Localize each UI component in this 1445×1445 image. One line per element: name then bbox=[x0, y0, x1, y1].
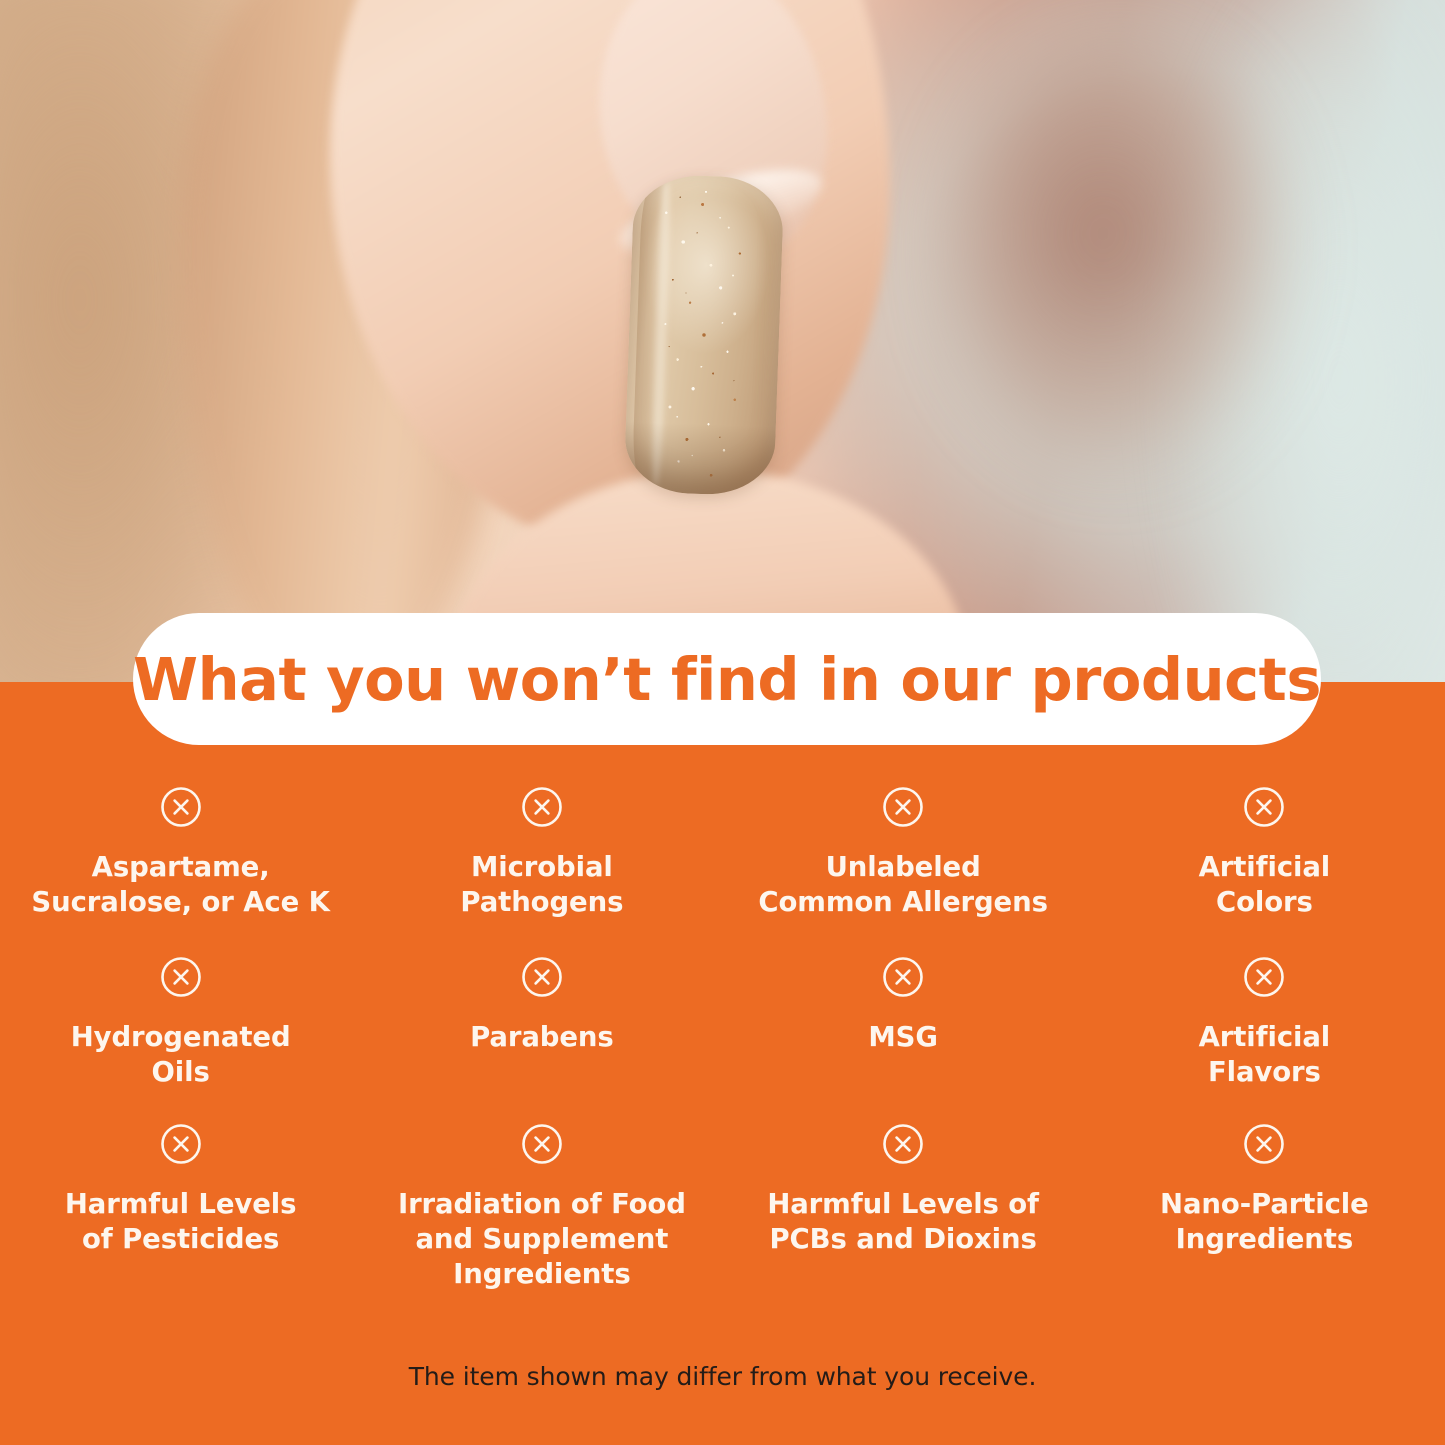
grid-cell-label: HydrogenatedOils bbox=[71, 1020, 291, 1090]
x-circle-icon bbox=[160, 1123, 202, 1165]
page-title-emphasis: won’t bbox=[466, 645, 651, 714]
grid-cell-parabens: Parabens bbox=[361, 956, 722, 1123]
x-circle-icon bbox=[1243, 1123, 1285, 1165]
grid-cell-unlabeled-allergens: UnlabeledCommon Allergens bbox=[723, 786, 1084, 956]
headline-pill: What you won’t find in our products bbox=[133, 613, 1321, 745]
photo-background-bokeh bbox=[950, 40, 1290, 470]
supplement-tablet bbox=[623, 173, 784, 496]
grid-cell-label: Harmful Levelsof Pesticides bbox=[65, 1187, 296, 1257]
x-circle-icon bbox=[1243, 786, 1285, 828]
x-circle-icon bbox=[882, 956, 924, 998]
x-circle-icon bbox=[521, 786, 563, 828]
disclaimer-text: The item shown may differ from what you … bbox=[0, 1362, 1445, 1391]
grid-cell-pcbs-dioxins: Harmful Levels ofPCBs and Dioxins bbox=[723, 1123, 1084, 1323]
grid-cell-label: UnlabeledCommon Allergens bbox=[758, 850, 1047, 920]
x-circle-icon bbox=[521, 956, 563, 998]
grid-cell-label: Harmful Levels ofPCBs and Dioxins bbox=[767, 1187, 1039, 1257]
grid-cell-label: ArtificialFlavors bbox=[1199, 1020, 1331, 1090]
grid-cell-label: ArtificialColors bbox=[1199, 850, 1331, 920]
product-claims-infographic: What you won’t find in our products Aspa… bbox=[0, 0, 1445, 1445]
grid-cell-artificial-colors: ArtificialColors bbox=[1084, 786, 1445, 956]
x-circle-icon bbox=[160, 786, 202, 828]
x-circle-icon bbox=[882, 1123, 924, 1165]
page-title: What you won’t find in our products bbox=[133, 645, 1321, 714]
grid-cell-pesticides: Harmful Levelsof Pesticides bbox=[0, 1123, 361, 1323]
grid-row: Harmful Levelsof Pesticides Irradiation … bbox=[0, 1123, 1445, 1323]
x-circle-icon bbox=[1243, 956, 1285, 998]
grid-cell-aspartame: Aspartame,Sucralose, or Ace K bbox=[0, 786, 361, 956]
page-title-part1: What you bbox=[133, 645, 466, 714]
grid-cell-label: MSG bbox=[868, 1020, 937, 1055]
grid-cell-label: Nano-ParticleIngredients bbox=[1160, 1187, 1369, 1257]
grid-cell-microbial-pathogens: MicrobialPathogens bbox=[361, 786, 722, 956]
grid-cell-label: Aspartame,Sucralose, or Ace K bbox=[31, 850, 329, 920]
grid-row: HydrogenatedOils Parabens MSG Artificial… bbox=[0, 956, 1445, 1123]
grid-cell-irradiation: Irradiation of Foodand SupplementIngredi… bbox=[361, 1123, 722, 1323]
grid-cell-label: Parabens bbox=[470, 1020, 614, 1055]
excluded-ingredients-grid: Aspartame,Sucralose, or Ace K MicrobialP… bbox=[0, 786, 1445, 1323]
grid-cell-hydrogenated-oils: HydrogenatedOils bbox=[0, 956, 361, 1123]
page-title-part2: find in our products bbox=[651, 645, 1321, 714]
grid-row: Aspartame,Sucralose, or Ace K MicrobialP… bbox=[0, 786, 1445, 956]
tablet-bottom-shading bbox=[623, 421, 775, 496]
grid-cell-label: MicrobialPathogens bbox=[460, 850, 623, 920]
grid-cell-nano-particle: Nano-ParticleIngredients bbox=[1084, 1123, 1445, 1323]
grid-cell-label: Irradiation of Foodand SupplementIngredi… bbox=[398, 1187, 686, 1292]
x-circle-icon bbox=[521, 1123, 563, 1165]
x-circle-icon bbox=[882, 786, 924, 828]
x-circle-icon bbox=[160, 956, 202, 998]
hero-photo bbox=[0, 0, 1445, 682]
grid-cell-artificial-flavors: ArtificialFlavors bbox=[1084, 956, 1445, 1123]
grid-cell-msg: MSG bbox=[723, 956, 1084, 1123]
